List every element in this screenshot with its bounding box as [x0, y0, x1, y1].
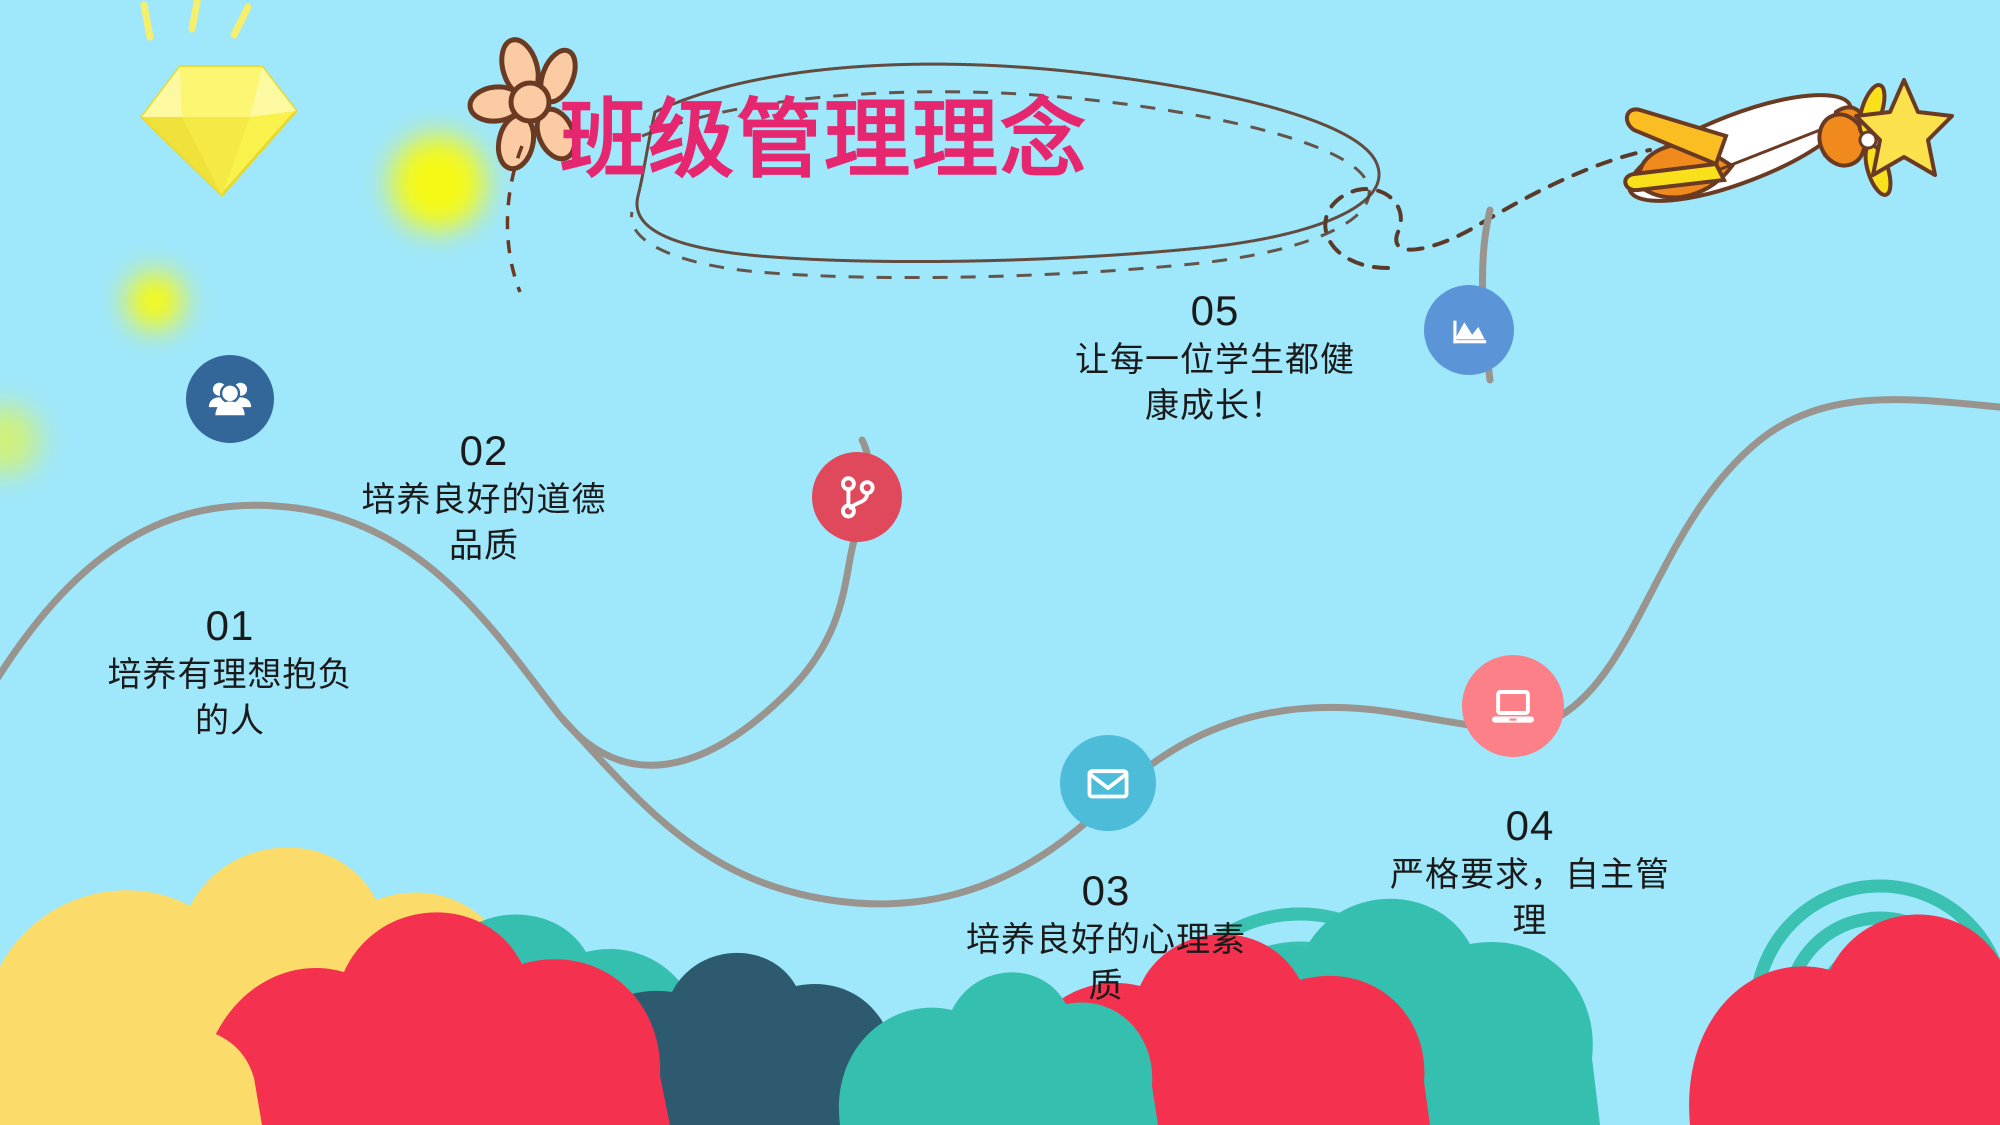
sun-glow-large — [390, 135, 486, 231]
cloud-yellow-front — [0, 1018, 262, 1125]
sun-glow-edge — [0, 405, 40, 475]
label-05-number: 05 — [1065, 285, 1365, 337]
chart-mountain-icon — [1444, 305, 1494, 355]
envelope-icon — [1081, 756, 1135, 810]
cloud-navy — [558, 953, 900, 1125]
users-icon — [204, 373, 256, 425]
label-04: 04 严格要求，自主管理 — [1380, 800, 1680, 944]
label-04-desc: 严格要求，自主管理 — [1380, 852, 1680, 944]
cloud-yellow — [0, 847, 540, 1125]
label-02-desc: 培养良好的道德品质 — [352, 477, 616, 569]
label-04-number: 04 — [1380, 800, 1680, 852]
node-02-branch[interactable] — [812, 452, 902, 542]
page-title-text: 班级管理理念 — [560, 85, 1180, 195]
page-title: 班级管理理念 — [560, 85, 1180, 195]
airplane-icon — [1618, 74, 1896, 222]
git-branch-icon — [832, 472, 882, 522]
node-05-chart[interactable] — [1424, 285, 1514, 375]
laptop-icon — [1485, 678, 1541, 734]
node-01-users[interactable] — [186, 355, 274, 443]
label-03: 03 培养良好的心理素质 — [960, 865, 1252, 1009]
label-05-desc: 让每一位学生都健康成长！ — [1065, 337, 1365, 429]
label-03-number: 03 — [960, 865, 1252, 917]
sun-glow-small — [126, 272, 184, 330]
label-02: 02 培养良好的道德品质 — [352, 425, 616, 569]
label-03-desc: 培养良好的心理素质 — [960, 917, 1252, 1009]
label-01-number: 01 — [95, 600, 365, 652]
node-04-laptop[interactable] — [1462, 655, 1564, 757]
label-01-desc: 培养有理想抱负的人 — [95, 652, 365, 744]
slide-canvas: 班级管理理念 01 培养有理想抱负的人 02 培养良好的道德品质 — [0, 0, 2000, 1125]
label-02-number: 02 — [352, 425, 616, 477]
label-01: 01 培养有理想抱负的人 — [95, 600, 365, 744]
node-03-envelope[interactable] — [1060, 735, 1156, 831]
label-05: 05 让每一位学生都健康成长！ — [1065, 285, 1365, 429]
star-icon — [1856, 80, 1952, 175]
